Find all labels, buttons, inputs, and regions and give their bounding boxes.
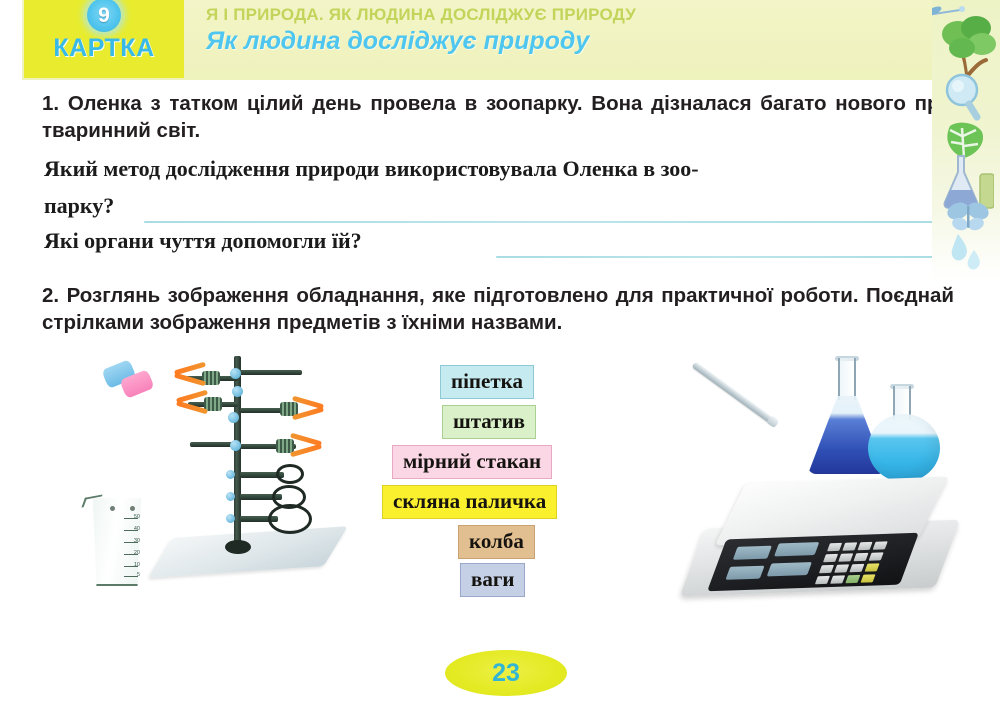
answer-line-1[interactable] [144,221,952,223]
magnifier-icon [942,72,988,124]
stand-foot [225,540,251,554]
card-number-circle: 9 [87,0,121,32]
stand-arm-top-right [238,370,302,375]
card-badge: 9 КАРТКА [24,0,184,78]
stand-base [148,526,348,578]
page-title: Як людина досліджує природу [206,27,589,56]
scale-display-3 [725,566,764,580]
clamp-jaw-2 [290,400,324,422]
label-box-mirnyi-stakan[interactable]: мірний стакан [392,445,552,479]
stand-knob-5 [226,470,235,479]
question-2-body: Розглянь зображення обладнання, яке підг… [42,284,954,334]
question-1-number: 1. [42,92,59,115]
question-1-prompt-line-1: Який метод дослідження природи використо… [44,156,699,182]
stand-knob-3 [228,412,239,423]
header-eyebrow: Я І ПРИРОДА. ЯК ЛЮДИНА ДОСЛІДЖУЄ ПРИРОДУ [206,5,636,25]
round-flask-bulb [868,414,940,482]
scale-display-1 [733,546,772,560]
label-box-pipetka[interactable]: піпетка [440,365,534,399]
scale-display-4 [767,562,812,576]
decorative-nature-strip [932,0,1000,280]
water-drop-icon [946,228,986,276]
stand-knob-1 [230,368,241,379]
worksheet-page: 9 КАРТКА Я І ПРИРОДА. ЯК ЛЮДИНА ДОСЛІДЖУ… [0,0,1000,710]
question-1-prompt-line-2: парку? [44,193,114,219]
graduated-beaker: 50 40 30 20 10 5 [84,490,150,590]
label-box-kolba[interactable]: колба [458,525,535,559]
clamp-jaw-4 [288,437,322,459]
header-left-margin [0,0,22,80]
stand-knob-2 [232,386,243,397]
glass-stirring-rod [691,361,776,425]
stand-knob-7 [226,514,235,523]
electronic-scale [694,480,964,598]
support-ring-3 [268,504,312,534]
card-word-label: КАРТКА [24,34,184,63]
beaker-graduations: 50 40 30 20 10 5 [104,516,140,580]
page-number-badge: 23 [445,650,567,696]
equipment-name-labels: піпетка штатив мірний стакан скляна пали… [380,360,630,600]
label-box-sklyana-palychka[interactable]: скляна паличка [382,485,557,519]
round-bottom-flask [864,386,948,482]
left-equipment-illustrations: 50 40 30 20 10 5 [62,352,392,602]
question-2-block: 2. Розглянь зображення обладнання, яке п… [42,282,954,336]
question-2-text: 2. Розглянь зображення обладнання, яке п… [42,282,954,336]
question-1-block: 1. Оленка з татком цілий день провела в … [42,90,952,144]
question-1-body: Оленка з татком цілий день провела в зоо… [42,92,952,142]
question-1-text: 1. Оленка з татком цілий день провела в … [42,90,952,144]
right-equipment-illustrations [668,352,988,602]
clamp-jaw-3 [176,394,210,416]
erlenmeyer-neck [838,358,856,400]
scale-display-2 [774,542,819,556]
stand-knob-4 [230,440,241,451]
answer-line-2[interactable] [496,256,952,258]
beaker-top-marks [110,506,138,513]
clamp-jaw-1 [174,366,208,388]
question-1-prompt-line-3: Які органи чуття допомогли їй? [44,228,362,254]
label-box-shtatyv[interactable]: штатив [442,405,536,439]
stand-knob-6 [226,492,235,501]
question-2-number: 2. [42,284,59,307]
support-ring-1 [276,464,304,484]
card-number: 9 [98,5,110,26]
page-number: 23 [492,661,520,686]
label-box-vahy[interactable]: ваги [460,563,525,597]
lab-stand [164,352,364,582]
